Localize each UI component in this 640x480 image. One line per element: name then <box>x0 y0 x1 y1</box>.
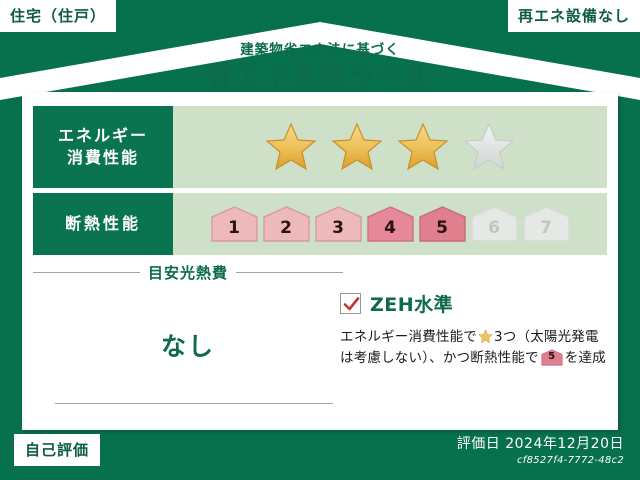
insulation-badge-6: 6 <box>470 205 519 243</box>
zeh-description: エネルギー消費性能で3つ（太陽光発電は考慮しない）、かつ断熱性能で5を達成 <box>340 327 610 369</box>
insulation-badge-inline: 5 <box>541 349 563 366</box>
renewable-equipment-tag: 再エネ設備なし <box>508 0 640 32</box>
energy-stars-area <box>173 122 607 172</box>
check-icon <box>343 296 360 313</box>
estimated-utility-cost-heading: 目安光熱費 <box>33 262 343 283</box>
zeh-checkbox[interactable] <box>340 293 361 314</box>
insulation-badge-7: 7 <box>522 205 571 243</box>
page-title: 省エネ性能ラベル <box>0 55 640 94</box>
cost-bottom-rule <box>55 403 333 404</box>
star-rating <box>265 122 515 172</box>
zeh-standard-section: ZEH水準 エネルギー消費性能で3つ（太陽光発電は考慮しない）、かつ断熱性能で5… <box>340 290 610 369</box>
star-icon-filled-1 <box>265 122 317 172</box>
zeh-desc-part3: を達成 <box>565 350 606 366</box>
star-icon-empty-4 <box>463 122 515 172</box>
energy-label-line1: エネルギー <box>58 125 148 147</box>
insulation-badge-1: 1 <box>210 205 259 243</box>
zeh-heading: ZEH水準 <box>340 290 610 317</box>
evaluation-date: 評価日 2024年12月20日 <box>457 433 624 453</box>
star-icon-inline <box>478 329 493 344</box>
insulation-badge-inline-label: 5 <box>541 349 563 366</box>
insulation-badge-label-1: 1 <box>210 205 259 243</box>
divider-line-right <box>236 272 343 273</box>
label-id: cf8527f4-7772-48c2 <box>457 455 624 466</box>
insulation-badge-label-7: 7 <box>522 205 571 243</box>
insulation-badge-label-5: 5 <box>418 205 467 243</box>
zeh-desc-part1: エネルギー消費性能で <box>340 329 477 345</box>
self-evaluation-tag: 自己評価 <box>14 434 100 466</box>
star-icon-filled-2 <box>331 122 383 172</box>
label-panel: エネルギー 消費性能 <box>22 92 618 430</box>
insulation-performance-row: 断熱性能 1 2 <box>33 193 607 255</box>
zeh-desc-star-count: 3つ（太陽光発電 <box>494 329 599 345</box>
energy-performance-label: 住宅（住戸） 再エネ設備なし 建築物省エネ法に基づく 省エネ性能ラベル エネルギ… <box>0 0 640 480</box>
insulation-badge-5: 5 <box>418 205 467 243</box>
insulation-badge-4: 4 <box>366 205 415 243</box>
star-icon-filled-3 <box>397 122 449 172</box>
insulation-badge-3: 3 <box>314 205 363 243</box>
insulation-badges-area: 1 2 3 <box>173 205 607 243</box>
estimated-utility-cost-value: なし <box>33 327 343 363</box>
energy-performance-row: エネルギー 消費性能 <box>33 106 607 188</box>
divider-line-left <box>33 272 140 273</box>
insulation-badge-2: 2 <box>262 205 311 243</box>
estimated-utility-cost-title: 目安光熱費 <box>148 262 228 283</box>
insulation-badge-label-2: 2 <box>262 205 311 243</box>
estimated-utility-cost-section: 目安光熱費 なし <box>33 262 343 414</box>
insulation-badge-label-6: 6 <box>470 205 519 243</box>
energy-performance-label-block: エネルギー 消費性能 <box>33 106 173 188</box>
footer-meta: 評価日 2024年12月20日 cf8527f4-7772-48c2 <box>457 433 624 466</box>
insulation-performance-label-block: 断熱性能 <box>33 193 173 255</box>
building-type-tag: 住宅（住戸） <box>0 0 116 32</box>
insulation-label-text: 断熱性能 <box>65 213 141 235</box>
insulation-badge-label-3: 3 <box>314 205 363 243</box>
insulation-level-scale: 1 2 3 <box>210 205 571 243</box>
insulation-badge-label-4: 4 <box>366 205 415 243</box>
zeh-title: ZEH水準 <box>370 290 453 317</box>
energy-label-line2: 消費性能 <box>67 147 139 169</box>
zeh-desc-part2: は考慮しない）、かつ断熱性能で <box>340 350 539 366</box>
